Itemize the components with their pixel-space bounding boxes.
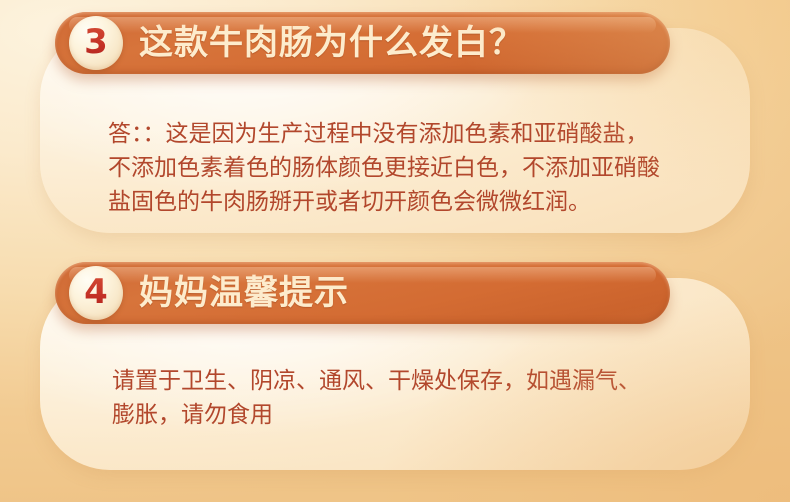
section-title-3: 这款牛肉肠为什么发白？	[139, 26, 524, 60]
product-detail-page: 3 这款牛肉肠为什么发白？ 答：：这是因为生产过程中没有添加色素和亚硝酸盐， 不…	[0, 0, 790, 502]
section-body-4: 请置于卫生、阴凉、通风、干燥处保存，如遇漏气、 膨胀，请勿食用	[40, 363, 710, 431]
body-line: 答：：这是因为生产过程中没有添加色素和亚硝酸盐，	[108, 116, 710, 150]
body-line: 膨胀，请勿食用	[112, 397, 710, 431]
body-line: 盐固色的牛肉肠掰开或者切开颜色会微微红润。	[108, 184, 710, 218]
section-header-pill-3: 3 这款牛肉肠为什么发白？	[55, 12, 670, 74]
faq-card-3: 3 这款牛肉肠为什么发白？ 答：：这是因为生产过程中没有添加色素和亚硝酸盐， 不…	[40, 28, 750, 233]
faq-card-4: 4 妈妈温馨提示 请置于卫生、阴凉、通风、干燥处保存，如遇漏气、 膨胀，请勿食用	[40, 278, 750, 470]
section-number-badge-4: 4	[69, 266, 123, 320]
body-line: 不添加色素着色的肠体颜色更接近白色，不添加亚硝酸	[108, 150, 710, 184]
section-number-4: 4	[84, 275, 108, 311]
section-number-badge-3: 3	[69, 16, 123, 70]
section-body-3: 答：：这是因为生产过程中没有添加色素和亚硝酸盐， 不添加色素着色的肠体颜色更接近…	[40, 116, 710, 218]
section-header-pill-4: 4 妈妈温馨提示	[55, 262, 670, 324]
section-number-3: 3	[84, 25, 108, 61]
section-title-4: 妈妈温馨提示	[139, 276, 349, 310]
body-line: 请置于卫生、阴凉、通风、干燥处保存，如遇漏气、	[112, 363, 710, 397]
